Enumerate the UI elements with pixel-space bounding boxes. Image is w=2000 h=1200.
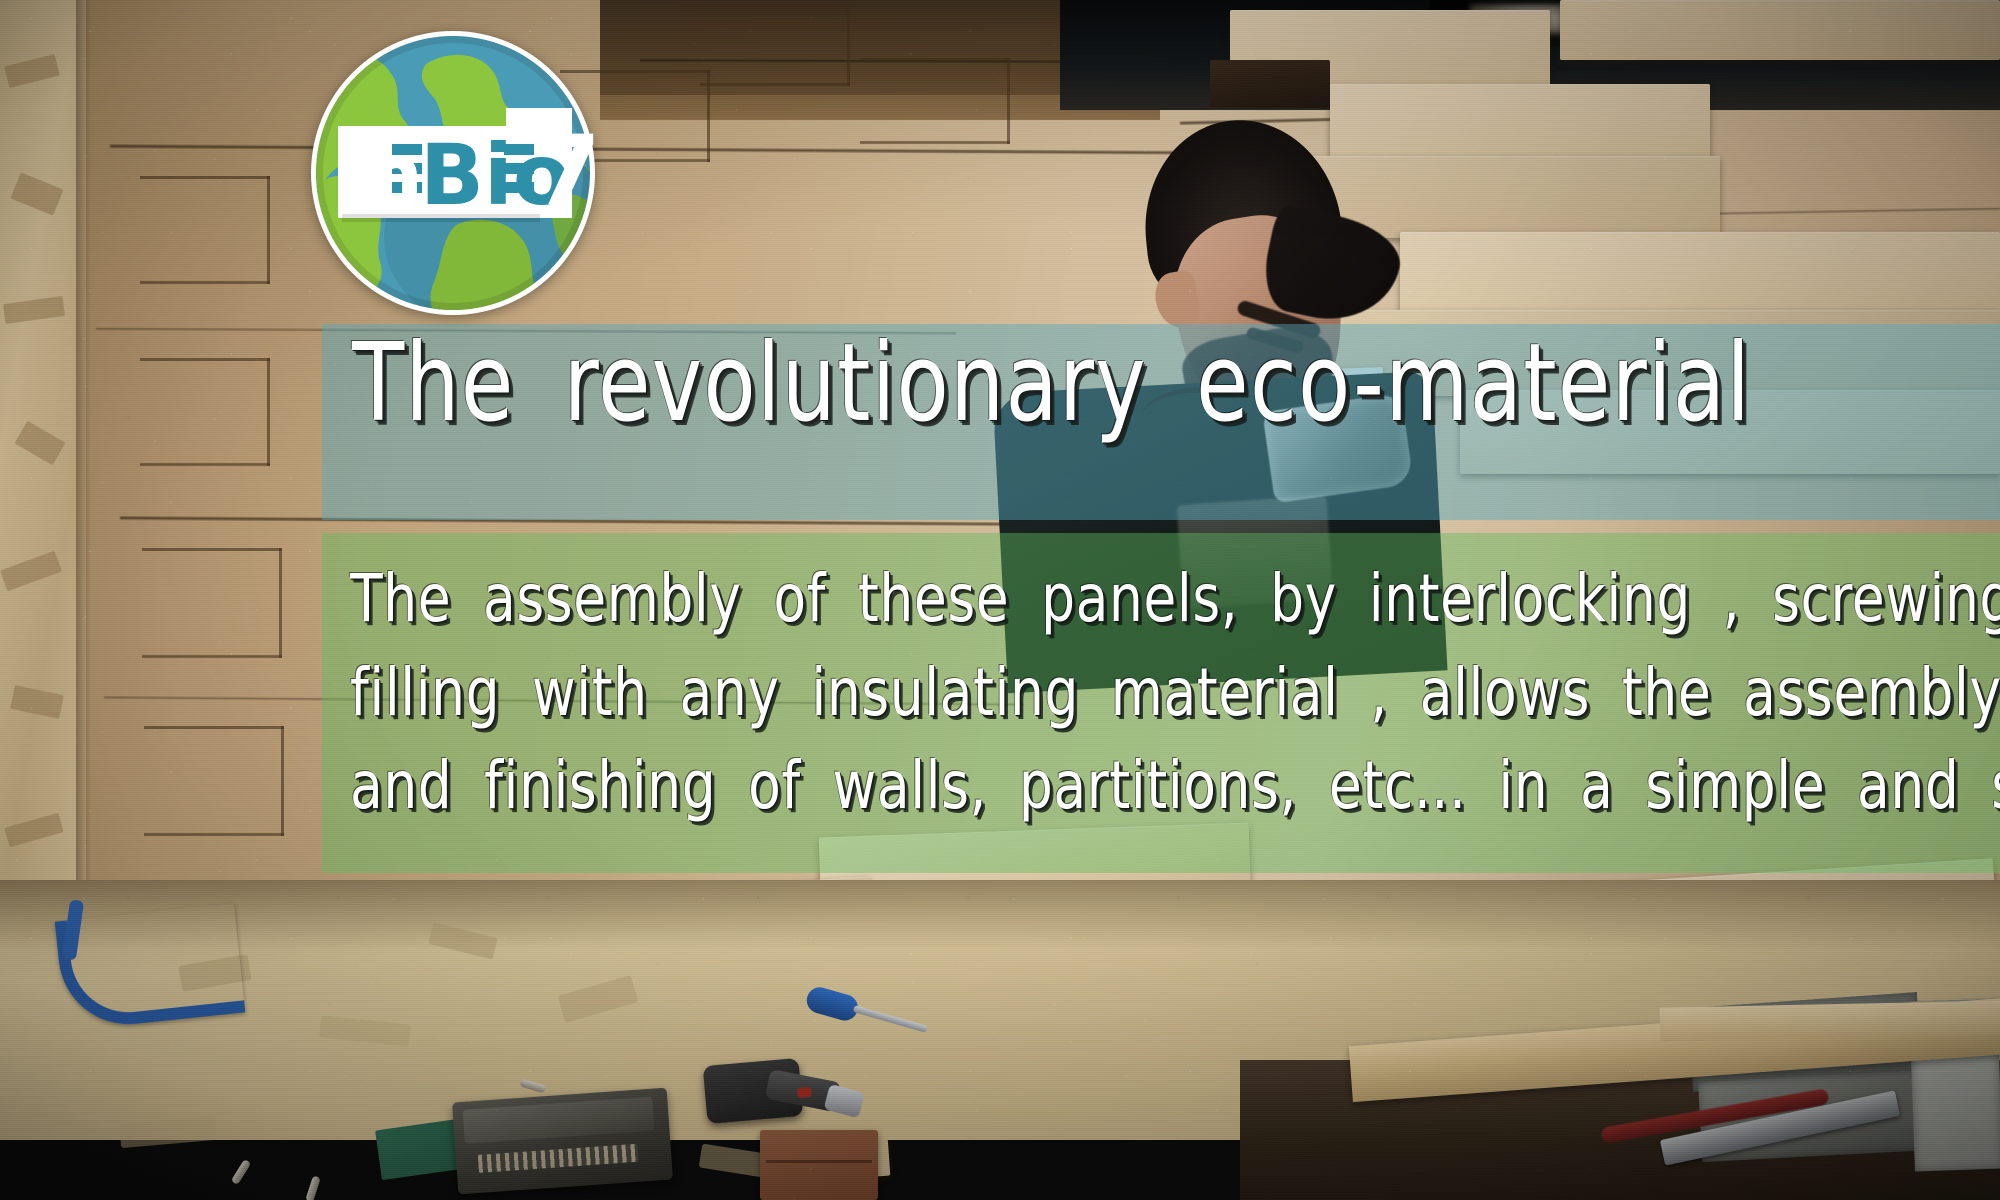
page-title: The revolutionary eco-material: [352, 330, 1795, 438]
description-line-2: filling with any insulating material , a…: [350, 646, 1880, 740]
banner-image: The revolutionary eco-material The assem…: [0, 0, 2000, 1200]
brand-logo[interactable]: m Bio 7: [308, 28, 598, 318]
description-line-3: and finishing of walls, partitions, etc.…: [350, 739, 1880, 833]
description-text: The assembly of these panels, by interlo…: [350, 552, 1880, 833]
description-line-1: The assembly of these panels, by interlo…: [350, 552, 1880, 646]
logo-digit-7: 7: [534, 115, 598, 227]
logo-letter-m: m: [336, 126, 424, 224]
